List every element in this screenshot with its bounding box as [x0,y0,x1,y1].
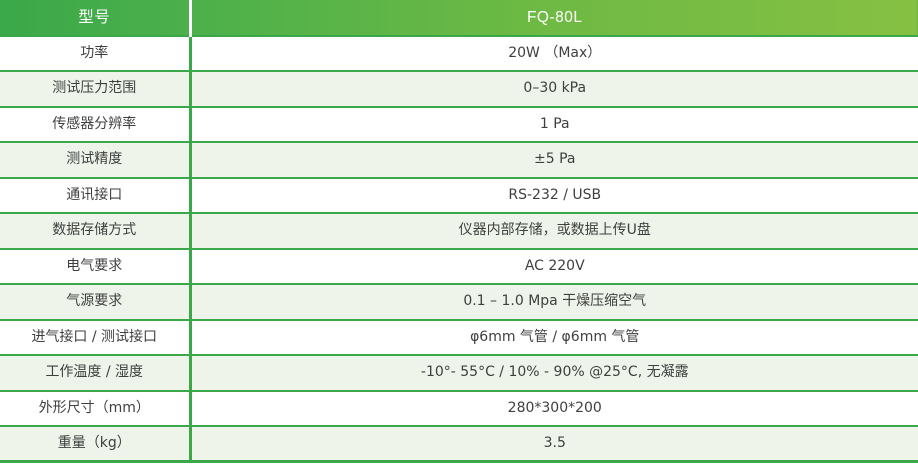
row-value-cell: 0–30 kPa [190,71,918,107]
table-row: 外形尺寸（mm）280*300*200 [0,391,918,427]
table-row: 测试压力范围0–30 kPa [0,71,918,107]
table-row: 传感器分辨率1 Pa [0,107,918,143]
row-label-cell: 外形尺寸（mm） [0,391,190,427]
row-label-cell: 进气接口 / 测试接口 [0,320,190,356]
row-label-cell: 工作温度 / 湿度 [0,355,190,391]
row-label-cell: 数据存储方式 [0,213,190,249]
row-label-cell: 测试精度 [0,142,190,178]
specification-table: 型号 FQ-80L 功率20W （Max）测试压力范围0–30 kPa传感器分辨… [0,0,918,463]
row-label-cell: 测试压力范围 [0,71,190,107]
header-label-cell: 型号 [0,0,190,36]
table-row: 重量（kg）3.5 [0,426,918,462]
row-value-cell: 仪器内部存储，或数据上传U盘 [190,213,918,249]
row-value-cell: ±5 Pa [190,142,918,178]
table-row: 电气要求AC 220V [0,249,918,285]
row-label-cell: 传感器分辨率 [0,107,190,143]
row-label-cell: 重量（kg） [0,426,190,462]
row-label-cell: 功率 [0,36,190,72]
row-label-cell: 气源要求 [0,284,190,320]
table-row: 测试精度±5 Pa [0,142,918,178]
row-value-cell: 1 Pa [190,107,918,143]
table-header-row: 型号 FQ-80L [0,0,918,36]
row-label-cell: 通讯接口 [0,178,190,214]
row-value-cell: 0.1 – 1.0 Mpa 干燥压缩空气 [190,284,918,320]
row-value-cell: 280*300*200 [190,391,918,427]
row-label-cell: 电气要求 [0,249,190,285]
table-row: 气源要求0.1 – 1.0 Mpa 干燥压缩空气 [0,284,918,320]
table-body: 功率20W （Max）测试压力范围0–30 kPa传感器分辨率1 Pa测试精度±… [0,36,918,462]
table-row: 通讯接口RS-232 / USB [0,178,918,214]
table-row: 进气接口 / 测试接口φ6mm 气管 / φ6mm 气管 [0,320,918,356]
row-value-cell: -10°- 55°C / 10% - 90% @25°C, 无凝露 [190,355,918,391]
row-value-cell: 3.5 [190,426,918,462]
row-value-cell: AC 220V [190,249,918,285]
table-row: 功率20W （Max） [0,36,918,72]
table-header: 型号 FQ-80L [0,0,918,36]
table-row: 数据存储方式仪器内部存储，或数据上传U盘 [0,213,918,249]
table-row: 工作温度 / 湿度-10°- 55°C / 10% - 90% @25°C, 无… [0,355,918,391]
row-value-cell: 20W （Max） [190,36,918,72]
row-value-cell: RS-232 / USB [190,178,918,214]
row-value-cell: φ6mm 气管 / φ6mm 气管 [190,320,918,356]
header-value-cell: FQ-80L [190,0,918,36]
